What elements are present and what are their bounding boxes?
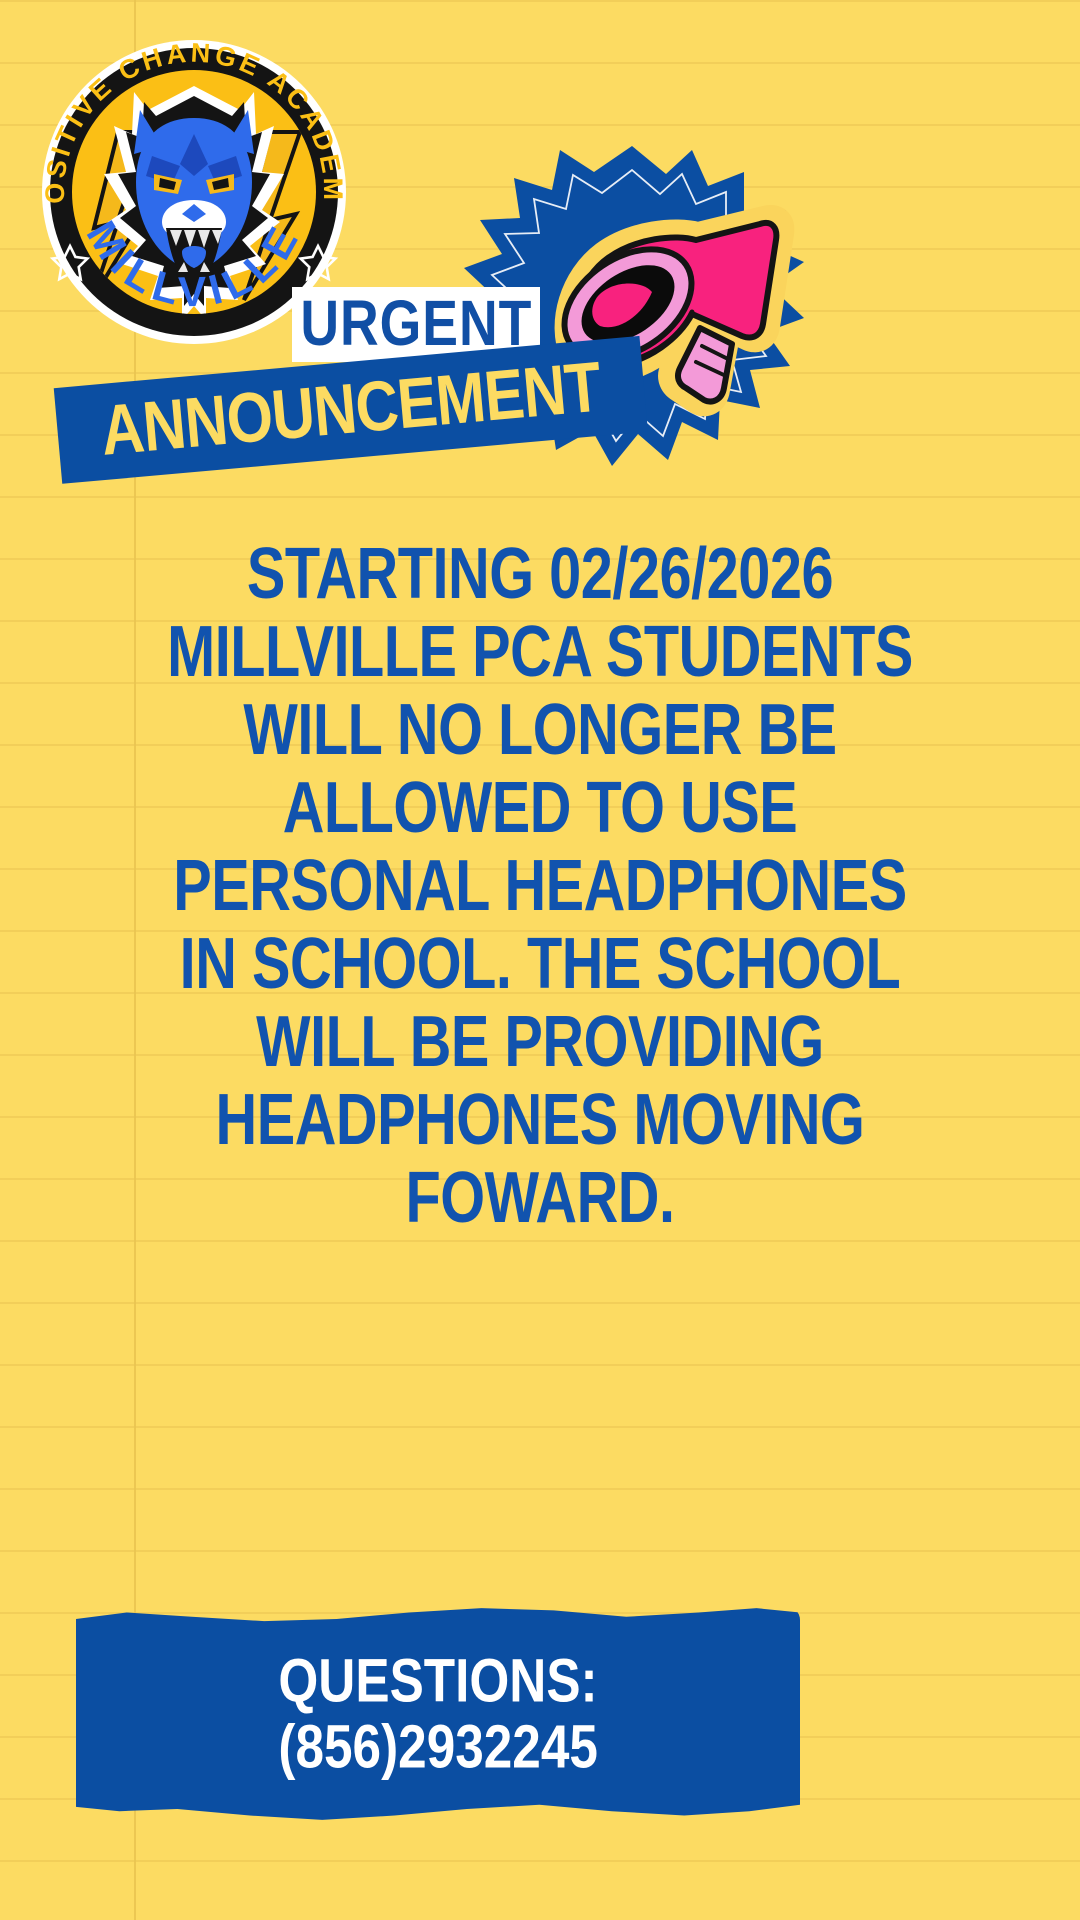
body-line: MILLVILLE PCA STUDENTS [38, 608, 1042, 698]
contact-phone-number[interactable]: (856)2932245 [278, 1712, 597, 1783]
body-line: ALLOWED TO USE [38, 764, 1042, 854]
body-line: PERSONAL HEADPHONES [38, 842, 1042, 932]
questions-label: QUESTIONS: [278, 1646, 597, 1717]
urgent-label: URGENT [300, 293, 532, 357]
announcement-body: STARTING 02/26/2026 MILLVILLE PCA STUDEN… [0, 536, 1080, 1238]
body-line: IN SCHOOL. THE SCHOOL [38, 920, 1042, 1010]
questions-text-group: QUESTIONS: (856)2932245 [76, 1606, 800, 1822]
questions-contact-box: QUESTIONS: (856)2932245 [76, 1606, 800, 1822]
body-line: STARTING 02/26/2026 [38, 530, 1042, 620]
body-line: WILL NO LONGER BE [38, 686, 1042, 776]
body-line: WILL BE PROVIDING [38, 998, 1042, 1088]
body-line: FOWARD. [38, 1154, 1042, 1244]
body-line: HEADPHONES MOVING [38, 1076, 1042, 1166]
poster-stage: POSITIVE CHANGE ACADEMY [0, 0, 1080, 1920]
